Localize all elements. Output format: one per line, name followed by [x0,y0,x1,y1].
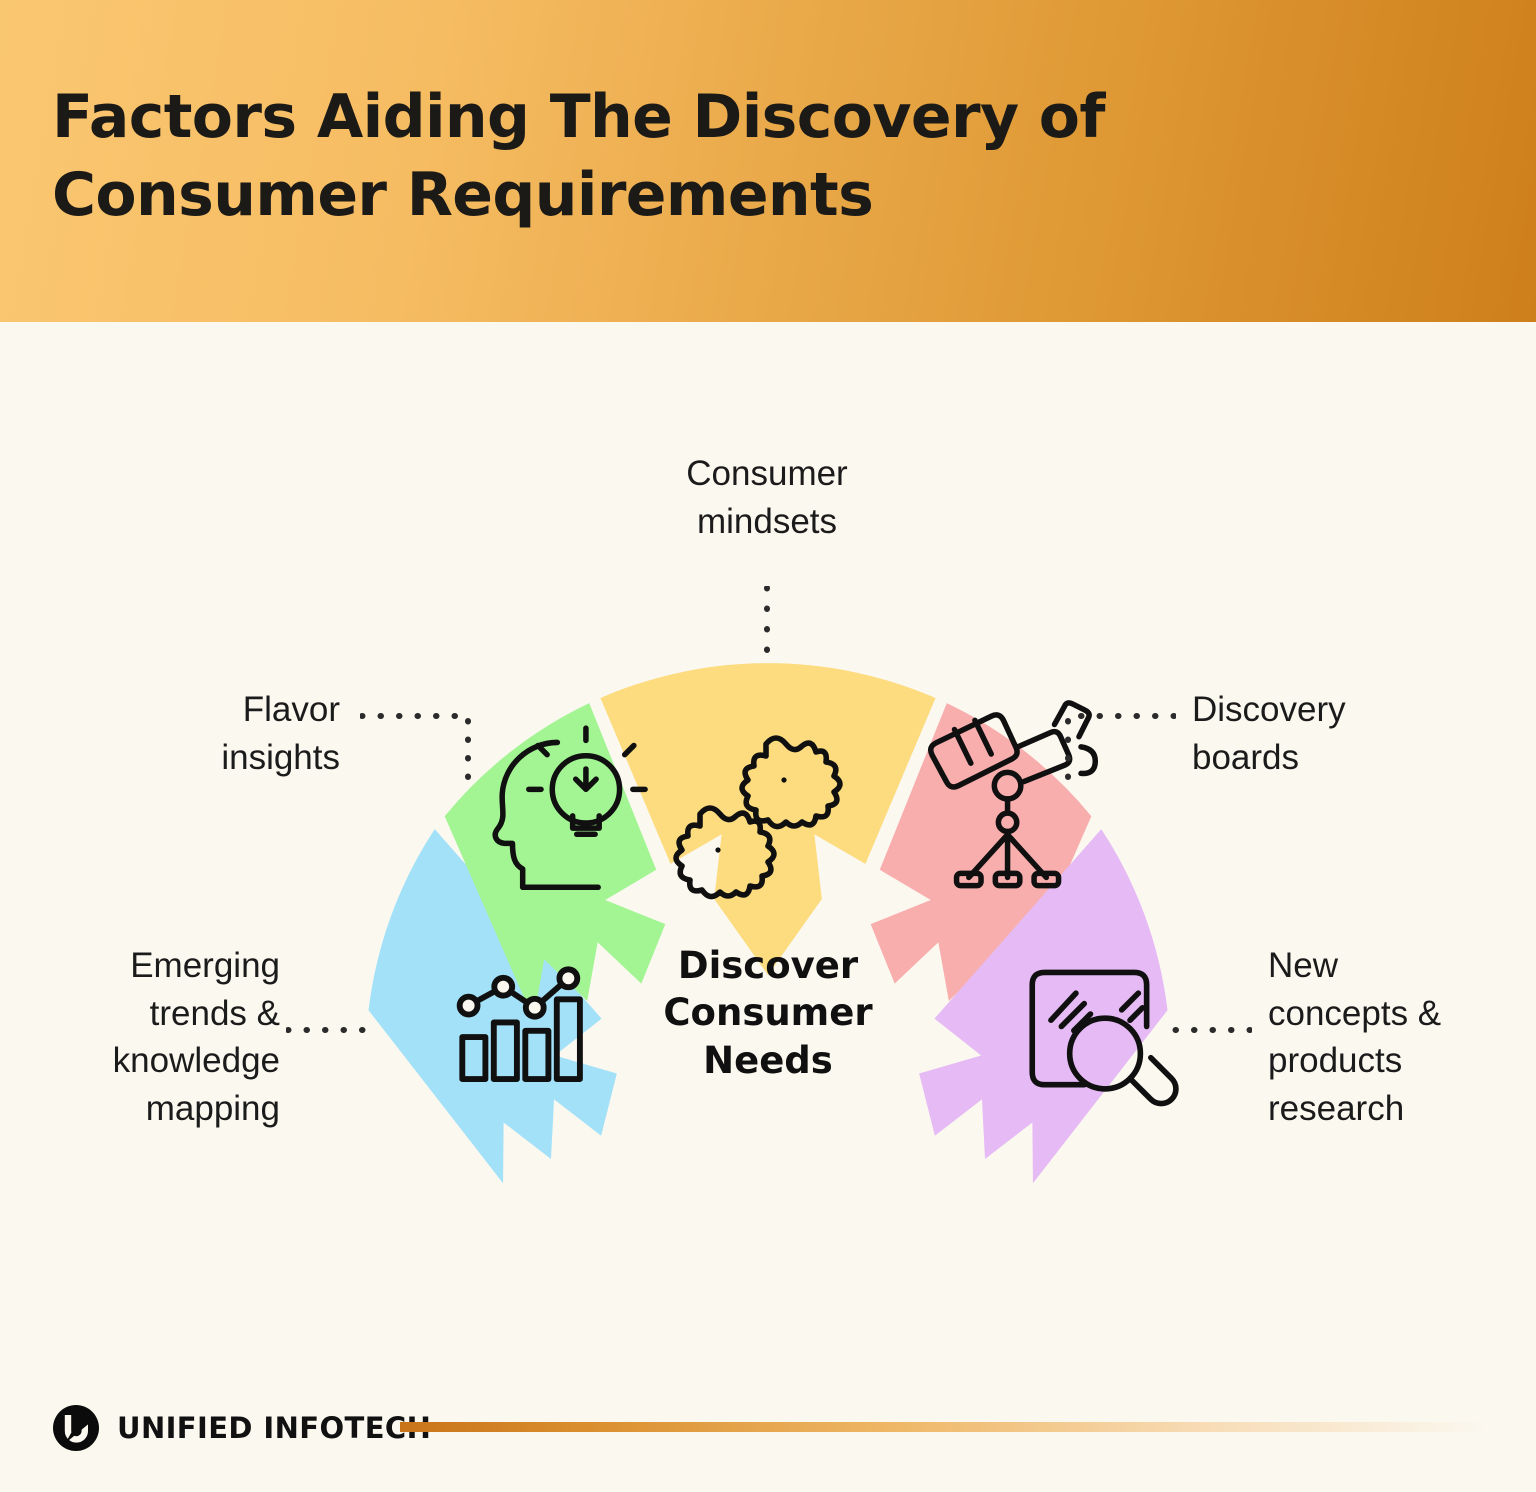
connector-discovery-boards [1060,708,1176,788]
label-discovery-boards: Discovery boards [1192,686,1512,781]
connector-consumer-mindsets [752,586,782,672]
brand-logo-group[interactable]: UNIFIED INFOTECH [52,1404,431,1452]
connector-emerging-trends [286,1022,378,1038]
footer: UNIFIED INFOTECH [0,1352,1536,1492]
header-banner: Factors Aiding The Discovery of Consumer… [0,0,1536,322]
footer-divider-rule [400,1422,1488,1432]
segment-wheel-svg [328,572,1208,1252]
center-label: Discover Consumer Needs [608,942,928,1084]
label-emerging-trends: Emerging trends & knowledge mapping [20,942,280,1132]
label-flavor-insights: Flavor insights [100,686,340,781]
label-new-concepts: New concepts & products research [1268,942,1528,1132]
brand-name: UNIFIED INFOTECH [117,1411,431,1445]
infographic-page: Factors Aiding The Discovery of Consumer… [0,0,1536,1492]
connector-new-concepts [1160,1022,1252,1038]
page-title: Factors Aiding The Discovery of Consumer… [52,78,1312,234]
label-consumer-mindsets: Consumer mindsets [597,450,937,545]
unified-infotech-logo-icon [52,1404,100,1452]
connector-flavor-insights [360,708,476,788]
wheel-diagram: Discover Consumer Needs Consumer mindset… [0,322,1536,1352]
